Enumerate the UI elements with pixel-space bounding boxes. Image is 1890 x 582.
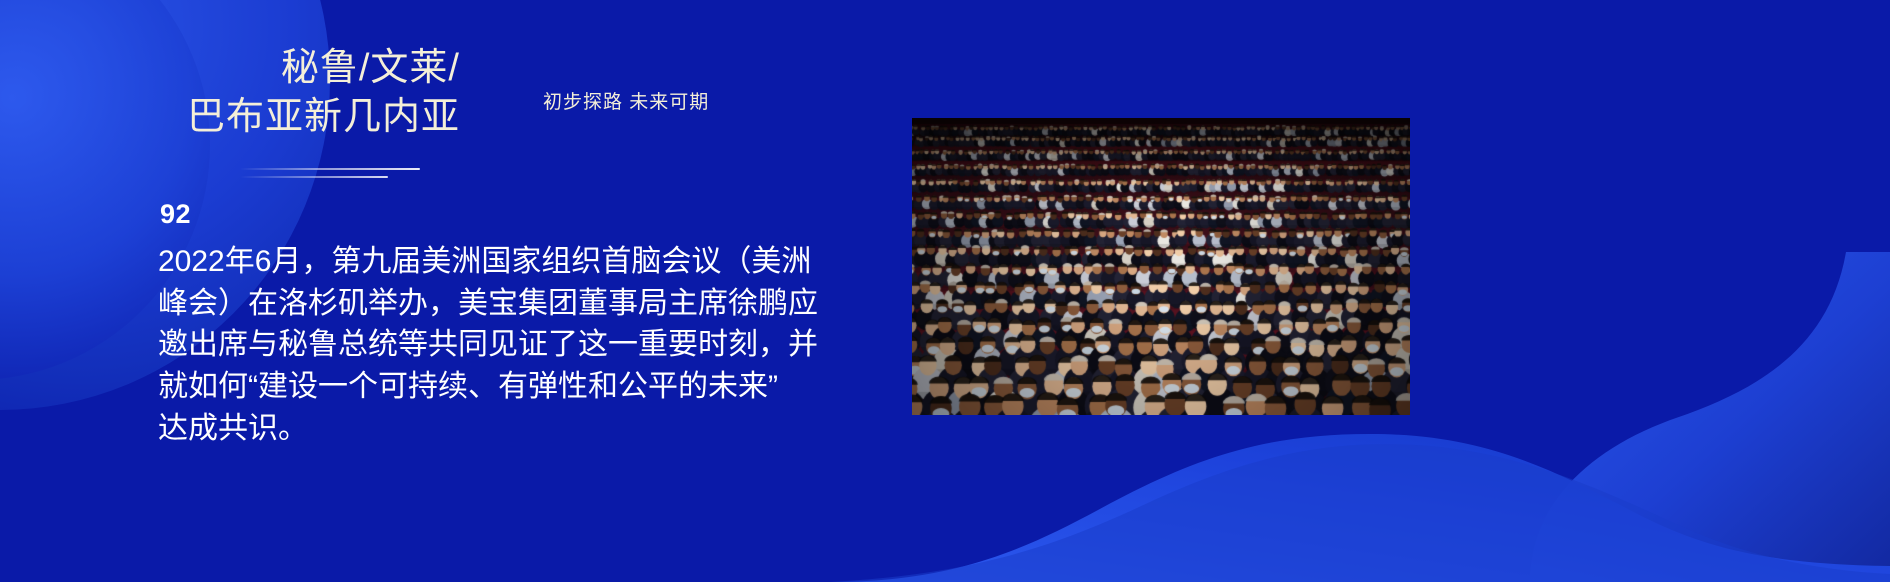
headline-divider-group — [240, 168, 420, 184]
item-number: 92 — [160, 199, 191, 230]
slide-subtitle: 初步探路 未来可期 — [543, 87, 709, 114]
body-paragraph: 2022年6月，第九届美洲国家组织首脑会议（美洲 峰会）在洛杉矶举办，美宝集团董… — [158, 241, 858, 449]
text-column: 秘鲁/文莱/ 巴布亚新几内亚 初步探路 未来可期 92 2022年6月，第九届美… — [0, 0, 900, 582]
headline-divider-line-1 — [240, 168, 420, 170]
slide-headline: 秘鲁/文莱/ 巴布亚新几内亚 — [160, 44, 460, 141]
headline-divider-line-2 — [240, 176, 388, 178]
presentation-slide: 秘鲁/文莱/ 巴布亚新几内亚 初步探路 未来可期 92 2022年6月，第九届美… — [0, 0, 1890, 582]
event-photo — [912, 118, 1410, 415]
event-photo-canvas — [912, 118, 1410, 415]
